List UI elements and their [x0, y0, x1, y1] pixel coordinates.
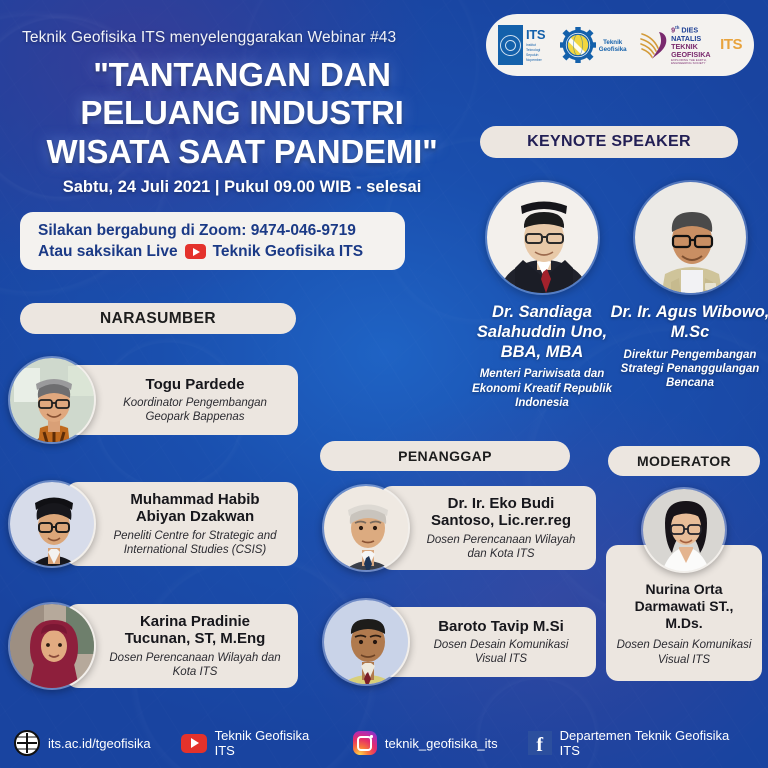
its-line3: Sepuluh Nopember — [526, 53, 550, 63]
footer-facebook-label: Departemen Teknik Geofisika ITS — [560, 728, 738, 758]
webinar-kicker: Teknik Geofisika ITS menyelenggarakan We… — [22, 29, 396, 47]
moderator-role: Dosen Desain Komunikasi Visual ITS — [616, 638, 752, 667]
avatar — [8, 602, 96, 690]
speaker-card: Muhammad Habib Abiyan Dzakwan Peneliti C… — [8, 480, 298, 568]
zoom-meeting-line: Silakan bergabung di Zoom: 9474-046-9719 — [38, 222, 405, 240]
footer-instagram[interactable]: teknik_geofisika_its — [353, 731, 498, 755]
facebook-icon: f — [528, 731, 552, 755]
avatar — [322, 484, 410, 572]
speaker-name: Dr. Ir. Eko Budi Santoso, Lic.rer.reg — [420, 495, 582, 530]
logo-strip: ITS Institut Teknologi Sepuluh Nopember — [486, 14, 754, 76]
avatar — [8, 480, 96, 568]
dies-tagline: EXPLORING THE EARTH, ENGINEERING SOCIETY — [671, 59, 718, 65]
keynote-speaker-card: Dr. Ir. Agus Wibowo, M.Sc Direktur Penge… — [610, 180, 768, 391]
youtube-channel: Teknik Geofisika ITS — [213, 243, 363, 261]
globe-icon — [14, 730, 40, 756]
avatar — [8, 356, 96, 444]
join-info-box: Silakan bergabung di Zoom: 9474-046-9719… — [20, 212, 405, 270]
section-header-keynote: KEYNOTE SPEAKER — [480, 126, 738, 158]
keynote-name: Dr. Ir. Agus Wibowo, M.Sc — [610, 303, 768, 343]
speaker-role: Dosen Desain Komunikasi Visual ITS — [420, 638, 582, 666]
speaker-name: Muhammad Habib Abiyan Dzakwan — [106, 491, 284, 526]
speaker-name: Togu Pardede — [106, 376, 284, 394]
zoom-meeting-id: Silakan bergabung di Zoom: 9474-046-9719 — [38, 222, 356, 240]
section-header-narasumber: NARASUMBER — [20, 303, 296, 334]
section-header-penanggap: PENANGGAP — [320, 441, 570, 471]
keynote-role: Direktur Pengembangan Strategi Penanggul… — [610, 348, 768, 391]
keynote-name: Dr. Sandiaga Salahuddin Uno, BBA, MBA — [462, 303, 622, 362]
its-logo: ITS Institut Teknologi Sepuluh Nopember — [498, 25, 550, 65]
avatar — [641, 487, 727, 573]
footer-facebook[interactable]: f Departemen Teknik Geofisika ITS — [528, 728, 738, 758]
moderator-card: Nurina Orta Darmawati ST., M.Ds. Dosen D… — [606, 487, 762, 681]
dies-its-acronym: ITS — [720, 36, 742, 53]
youtube-icon — [181, 734, 207, 753]
speaker-card-body: Karina Pradinie Tucunan, ST, M.Eng Dosen… — [66, 604, 298, 688]
footer-youtube-label: Teknik Geofisika ITS — [215, 728, 323, 758]
dies-ordinal-suffix: th — [675, 25, 679, 30]
footer-website[interactable]: its.ac.id/tgeofisika — [14, 730, 151, 756]
speaker-role: Koordinator Pengembangan Geopark Bappena… — [106, 396, 284, 424]
speaker-name: Karina Pradinie Tucunan, ST, M.Eng — [106, 613, 284, 648]
its-acronym: ITS — [526, 27, 545, 42]
wing-icon — [639, 28, 669, 62]
speaker-role: Dosen Perencanaan Wilayah dan Kota ITS — [420, 533, 582, 561]
footer-social-bar: its.ac.id/tgeofisika Teknik Geofisika IT… — [0, 718, 768, 768]
speaker-name: Baroto Tavip M.Si — [420, 618, 582, 636]
moderator-name: Nurina Orta Darmawati ST., M.Ds. — [616, 581, 752, 631]
teknik-geofisika-caption: Teknik Geofisika — [596, 39, 629, 53]
speaker-card: Togu Pardede Koordinator Pengembangan Ge… — [8, 356, 298, 444]
keynote-speaker-card: Dr. Sandiaga Salahuddin Uno, BBA, MBA Me… — [462, 180, 622, 411]
avatar — [485, 180, 600, 295]
gear-globe-icon — [560, 27, 596, 63]
speaker-role: Dosen Perencanaan Wilayah dan Kota ITS — [106, 651, 284, 679]
live-prefix: Atau saksikan Live — [38, 243, 178, 261]
speaker-card-body: Dr. Ir. Eko Budi Santoso, Lic.rer.reg Do… — [380, 486, 596, 570]
live-stream-line: Atau saksikan Live Teknik Geofisika ITS — [38, 243, 405, 261]
speaker-role: Peneliti Centre for Strategic and Intern… — [106, 529, 284, 557]
avatar — [633, 180, 748, 295]
youtube-icon[interactable] — [185, 244, 206, 259]
event-datetime: Sabtu, 24 Juli 2021 | Pukul 09.00 WIB - … — [16, 178, 468, 197]
speaker-card: Karina Pradinie Tucunan, ST, M.Eng Dosen… — [8, 602, 298, 690]
webinar-poster: ITS Institut Teknologi Sepuluh Nopember — [0, 0, 768, 768]
footer-website-label: its.ac.id/tgeofisika — [48, 736, 151, 751]
speaker-card: Baroto Tavip M.Si Dosen Desain Komunikas… — [322, 598, 596, 686]
speaker-card-body: Baroto Tavip M.Si Dosen Desain Komunikas… — [380, 607, 596, 677]
instagram-icon — [353, 731, 377, 755]
dies-natalis-logo: 9th DIES NATALIS TEKNIK GEOFISIKA EXPLOR… — [639, 25, 742, 65]
its-emblem-icon — [498, 25, 523, 65]
footer-instagram-label: teknik_geofisika_its — [385, 736, 498, 751]
page-title: "TANTANGAN DAN PELUANG INDUSTRI WISATA S… — [16, 56, 468, 171]
speaker-card: Dr. Ir. Eko Budi Santoso, Lic.rer.reg Do… — [322, 484, 596, 572]
speaker-card-body: Muhammad Habib Abiyan Dzakwan Peneliti C… — [66, 482, 298, 566]
speaker-card-body: Togu Pardede Koordinator Pengembangan Ge… — [66, 365, 298, 435]
section-header-moderator: MODERATOR — [608, 446, 760, 476]
footer-youtube[interactable]: Teknik Geofisika ITS — [181, 728, 323, 758]
keynote-role: Menteri Pariwisata dan Ekonomi Kreatif R… — [462, 367, 622, 410]
teknik-geofisika-logo: Teknik Geofisika — [560, 27, 629, 63]
avatar — [322, 598, 410, 686]
